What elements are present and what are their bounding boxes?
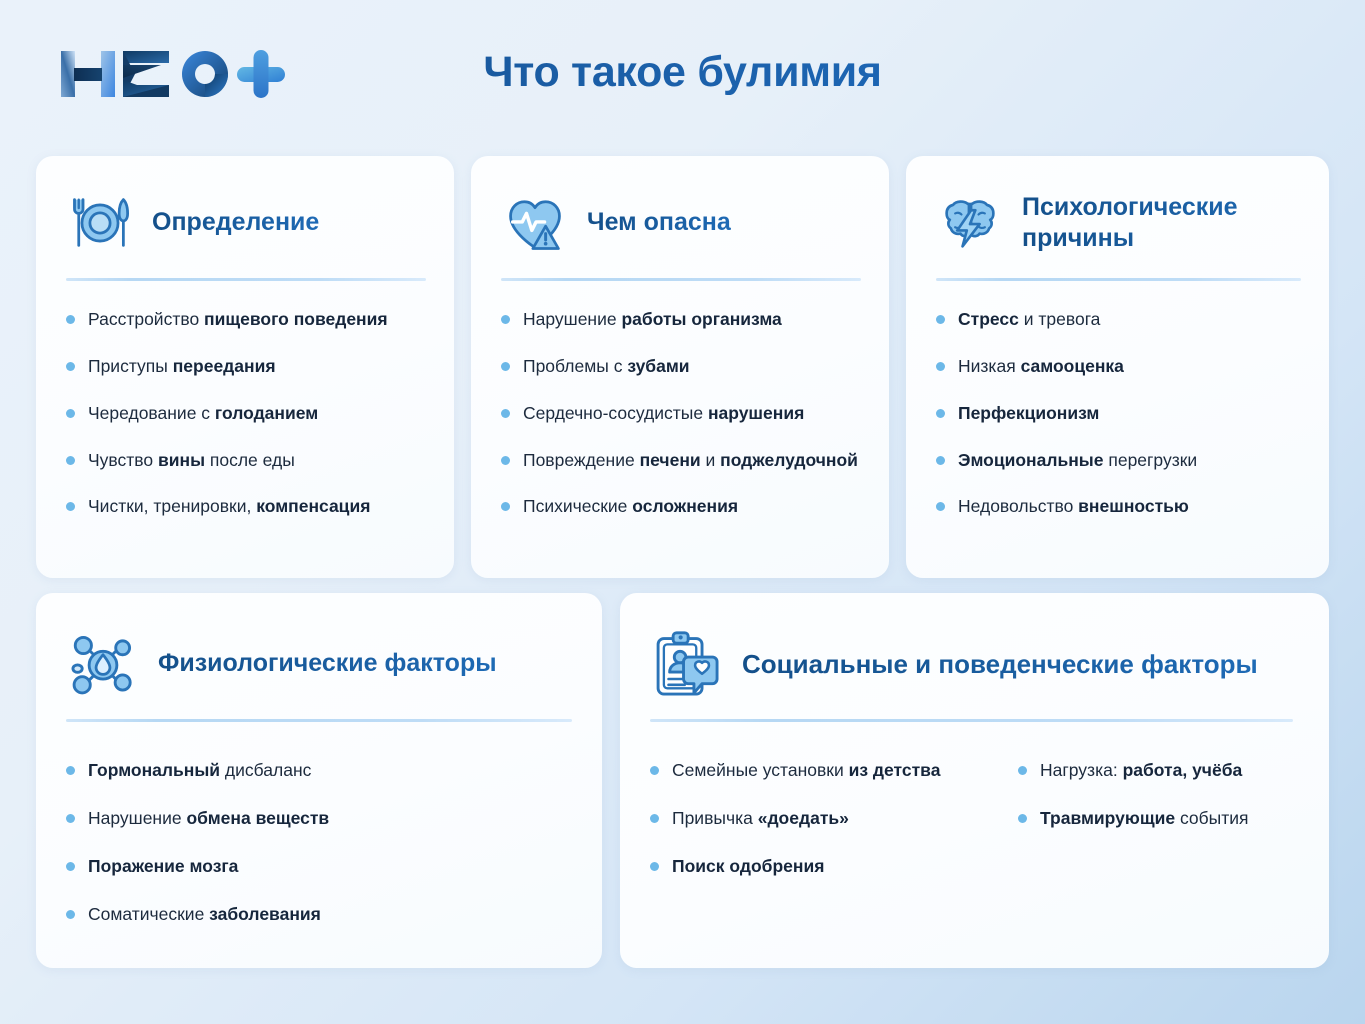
- list-item-text: Стресс и тревога: [958, 307, 1100, 332]
- card-danger: Чем опасна Нарушение работы организмаПро…: [471, 156, 889, 578]
- bullet-dot-icon: [936, 456, 945, 465]
- list-item: Нагрузка: работа, учёба: [1018, 758, 1318, 783]
- bullet-dot-icon: [936, 315, 945, 324]
- plate-fork-knife-icon: [66, 189, 134, 257]
- list-item: Низкая самооценка: [936, 354, 1303, 379]
- card-definition: Определение Расстройство пищевого поведе…: [36, 156, 454, 578]
- clipboard-person-heart-icon: [650, 627, 724, 701]
- list-item-text: Перфекционизм: [958, 401, 1099, 426]
- list-item: Нарушение работы организма: [501, 307, 863, 332]
- bullet-column-right: Нагрузка: работа, учёбаТравмирующие собы…: [1018, 758, 1318, 902]
- list-item-text: Психические осложнения: [523, 494, 738, 519]
- bullet-list: Стресс и тревогаНизкая самооценкаПерфекц…: [906, 281, 1329, 519]
- bullet-dot-icon: [66, 409, 75, 418]
- list-item: Чувство вины после еды: [66, 448, 428, 473]
- bullet-dot-icon: [650, 766, 659, 775]
- card-header: Физиологические факторы: [36, 593, 602, 705]
- bullet-dot-icon: [66, 456, 75, 465]
- page-title: Что такое булимия: [0, 48, 1365, 97]
- bullet-dot-icon: [936, 502, 945, 511]
- list-item: Эмоциональные перегрузки: [936, 448, 1303, 473]
- card-header: Социальные и поведенческие факторы: [620, 593, 1329, 705]
- list-item: Поиск одобрения: [650, 854, 1018, 879]
- molecule-hormone-icon: [66, 627, 140, 701]
- bullet-dot-icon: [650, 862, 659, 871]
- bullet-list: Расстройство пищевого поведенияПриступы …: [36, 281, 454, 519]
- list-item: Соматические заболевания: [66, 902, 576, 927]
- bullet-column-left: Семейные установки из детстваПривычка «д…: [650, 758, 1018, 902]
- bullet-dot-icon: [501, 502, 510, 511]
- card-header: Психологические причины: [906, 156, 1329, 260]
- bullet-dot-icon: [66, 814, 75, 823]
- bullet-dot-icon: [501, 315, 510, 324]
- bullet-dot-icon: [501, 409, 510, 418]
- list-item: Травмирующие события: [1018, 806, 1318, 831]
- list-item-text: Сердечно-сосудистые нарушения: [523, 401, 804, 426]
- brain-lightning-icon: [936, 189, 1004, 257]
- list-item: Нарушение обмена веществ: [66, 806, 576, 831]
- bullet-list-columns: Семейные установки из детстваПривычка «д…: [620, 722, 1329, 902]
- list-item: Недовольство внешностью: [936, 494, 1303, 519]
- list-item-text: Соматические заболевания: [88, 902, 321, 927]
- card-social-behavioural-factors: Социальные и поведенческие факторы Семей…: [620, 593, 1329, 968]
- card-title: Психологические причины: [1022, 192, 1303, 255]
- list-item-text: Чередование с голоданием: [88, 401, 318, 426]
- list-item: Стресс и тревога: [936, 307, 1303, 332]
- bullet-dot-icon: [650, 814, 659, 823]
- list-item: Психические осложнения: [501, 494, 863, 519]
- list-item: Перфекционизм: [936, 401, 1303, 426]
- list-item-text: Повреждение печени и поджелудочной: [523, 448, 858, 473]
- list-item-text: Недовольство внешностью: [958, 494, 1189, 519]
- bullet-dot-icon: [66, 766, 75, 775]
- list-item-text: Эмоциональные перегрузки: [958, 448, 1197, 473]
- card-title: Чем опасна: [587, 207, 731, 239]
- bullet-dot-icon: [936, 409, 945, 418]
- list-item: Повреждение печени и поджелудочной: [501, 448, 863, 473]
- heart-pulse-warning-icon: [501, 189, 569, 257]
- list-item: Чередование с голоданием: [66, 401, 428, 426]
- bullet-list: Гормональный дисбалансНарушение обмена в…: [36, 722, 602, 926]
- bullet-dot-icon: [66, 862, 75, 871]
- bullet-list: Нарушение работы организмаПроблемы с зуб…: [471, 281, 889, 519]
- list-item-text: Расстройство пищевого поведения: [88, 307, 388, 332]
- list-item-text: Семейные установки из детства: [672, 758, 940, 783]
- bullet-dot-icon: [66, 502, 75, 511]
- list-item-text: Поражение мозга: [88, 854, 238, 879]
- card-header: Чем опасна: [471, 156, 889, 260]
- card-title: Определение: [152, 207, 319, 239]
- list-item-text: Нагрузка: работа, учёба: [1040, 758, 1242, 783]
- list-item: Чистки, тренировки, компенсация: [66, 494, 428, 519]
- card-title: Физиологические факторы: [158, 648, 497, 680]
- bullet-dot-icon: [1018, 814, 1027, 823]
- list-item-text: Нарушение обмена веществ: [88, 806, 329, 831]
- list-item-text: Привычка «доедать»: [672, 806, 849, 831]
- list-item-text: Проблемы с зубами: [523, 354, 690, 379]
- list-item-text: Приступы переедания: [88, 354, 276, 379]
- list-item-text: Нарушение работы организма: [523, 307, 782, 332]
- list-item: Семейные установки из детства: [650, 758, 1018, 783]
- page-header: Что такое булимия: [0, 0, 1365, 140]
- list-item: Поражение мозга: [66, 854, 576, 879]
- list-item-text: Чувство вины после еды: [88, 448, 295, 473]
- list-item: Расстройство пищевого поведения: [66, 307, 428, 332]
- card-physiological-factors: Физиологические факторы Гормональный дис…: [36, 593, 602, 968]
- list-item-text: Низкая самооценка: [958, 354, 1124, 379]
- list-item-text: Чистки, тренировки, компенсация: [88, 494, 370, 519]
- list-item: Гормональный дисбаланс: [66, 758, 576, 783]
- list-item: Приступы переедания: [66, 354, 428, 379]
- bullet-dot-icon: [66, 910, 75, 919]
- bullet-dot-icon: [936, 362, 945, 371]
- list-item-text: Поиск одобрения: [672, 854, 824, 879]
- list-item-text: Гормональный дисбаланс: [88, 758, 311, 783]
- bullet-dot-icon: [1018, 766, 1027, 775]
- list-item: Сердечно-сосудистые нарушения: [501, 401, 863, 426]
- list-item: Привычка «доедать»: [650, 806, 1018, 831]
- bullet-dot-icon: [66, 315, 75, 324]
- bullet-dot-icon: [66, 362, 75, 371]
- list-item: Проблемы с зубами: [501, 354, 863, 379]
- card-title: Социальные и поведенческие факторы: [742, 648, 1258, 681]
- list-item-text: Травмирующие события: [1040, 806, 1249, 831]
- card-psychological-causes: Психологические причины Стресс и тревога…: [906, 156, 1329, 578]
- card-header: Определение: [36, 156, 454, 260]
- bullet-dot-icon: [501, 456, 510, 465]
- bullet-dot-icon: [501, 362, 510, 371]
